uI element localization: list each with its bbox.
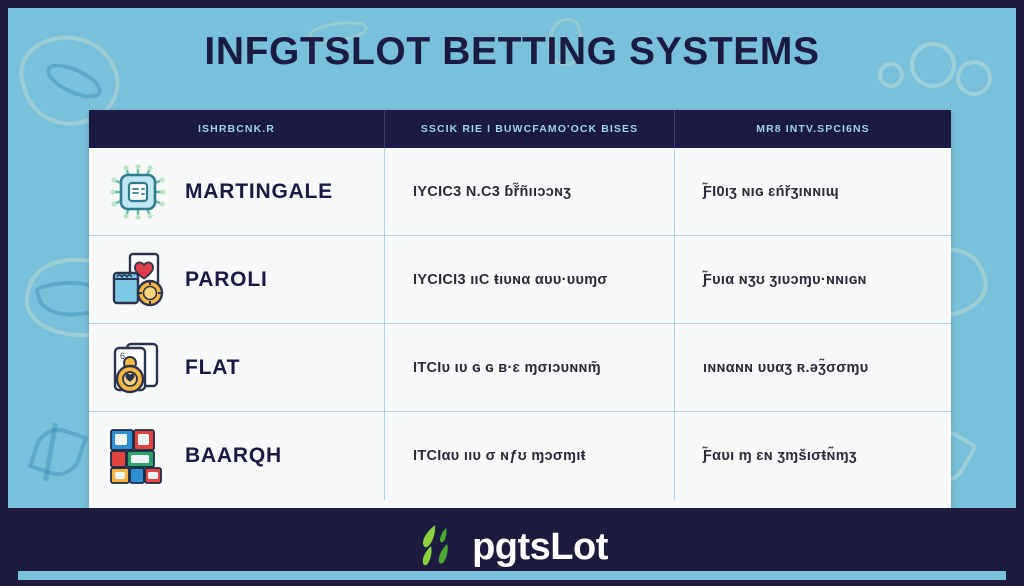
leaf-logo-icon bbox=[416, 522, 460, 573]
cell-description: IYCIC3 N.C3 ɓř̃ñııɔɔɴʒ bbox=[385, 148, 675, 235]
header-system: ISHRBCNK.R bbox=[89, 110, 385, 148]
table-row[interactable]: BAARQH ITCIαυ ııυ σ ɴƒʊ ɱɔσɱıŧ Ƒ̃αυı ɱ ɛ… bbox=[89, 412, 951, 500]
table-header-row: ISHRBCNK.R SSCIK RIE I BUWCFAMO'OCK BISE… bbox=[89, 110, 951, 148]
card-chips-icon bbox=[107, 249, 169, 311]
cell-risk: Ƒ̃αυı ɱ ɛɴ ʒɱšıσŧɴ̃ɱʒ bbox=[675, 412, 951, 500]
cell-system-name: BAARQH bbox=[89, 412, 385, 500]
cell-system-name: MARTINGALE bbox=[89, 148, 385, 235]
table-row[interactable]: MARTINGALE IYCIC3 N.C3 ɓř̃ñııɔɔɴʒ Ƒ̃Ι0ıʒ… bbox=[89, 148, 951, 236]
header-description: SSCIK RIE I BUWCFAMO'OCK BISES bbox=[385, 110, 675, 148]
betting-systems-table: ISHRBCNK.R SSCIK RIE I BUWCFAMO'OCK BISE… bbox=[89, 110, 951, 513]
cell-description: IYCICI3 ııC ŧıυɴα αυυ·υυɱσ bbox=[385, 236, 675, 323]
cell-system-name: PAROLI bbox=[89, 236, 385, 323]
cell-description: ITCIαυ ııυ σ ɴƒʊ ɱɔσɱıŧ bbox=[385, 412, 675, 500]
cell-risk: ıɴɴαɴɴ υυαʒ ʀ.əʒ̃σσɱυ bbox=[675, 324, 951, 411]
cell-risk: Ƒ̃υıα ɴʒʊ ʒıυɔɱυ·ɴɴıɢɴ bbox=[675, 236, 951, 323]
page-title: INFGTSLOT BETTING SYSTEMS bbox=[0, 30, 1024, 74]
cell-system-name: 6 6 FLAT bbox=[89, 324, 385, 411]
microchip-icon bbox=[107, 161, 169, 223]
cell-description: ITCIυ ιυ ɢ ɢ ʙ·ɛ ɱσıɔυɴɴɱ̃ bbox=[385, 324, 675, 411]
row-label: FLAT bbox=[185, 356, 240, 380]
cards-coin-icon: 6 6 bbox=[107, 337, 169, 399]
doodle-shape-8 bbox=[43, 423, 58, 481]
row-label: PAROLI bbox=[185, 268, 268, 292]
row-label: BAARQH bbox=[185, 444, 282, 468]
infographic-root: INFGTSLOT BETTING SYSTEMS ISHRBCNK.R SSC… bbox=[0, 0, 1024, 586]
brand-name: pgtsLot bbox=[472, 526, 608, 569]
table-row[interactable]: 6 6 FLAT ITCIυ ιυ ɢ ɢ ʙ·ɛ ɱσıɔυɴɴɱ̃ ıɴɴα… bbox=[89, 324, 951, 412]
doodle-shape-7 bbox=[28, 422, 88, 482]
header-risk: MR8 INTV.SPCI6NS bbox=[675, 110, 951, 148]
table-row[interactable]: PAROLI IYCICI3 ııC ŧıυɴα αυυ·υυɱσ Ƒ̃υıα … bbox=[89, 236, 951, 324]
row-label: MARTINGALE bbox=[185, 180, 333, 204]
stacked-chips-icon bbox=[107, 425, 169, 487]
footer-accent-strip bbox=[18, 571, 1006, 580]
cell-risk: Ƒ̃Ι0ıʒ ɴıɢ ɛńřʒıɴɴıɰ bbox=[675, 148, 951, 235]
